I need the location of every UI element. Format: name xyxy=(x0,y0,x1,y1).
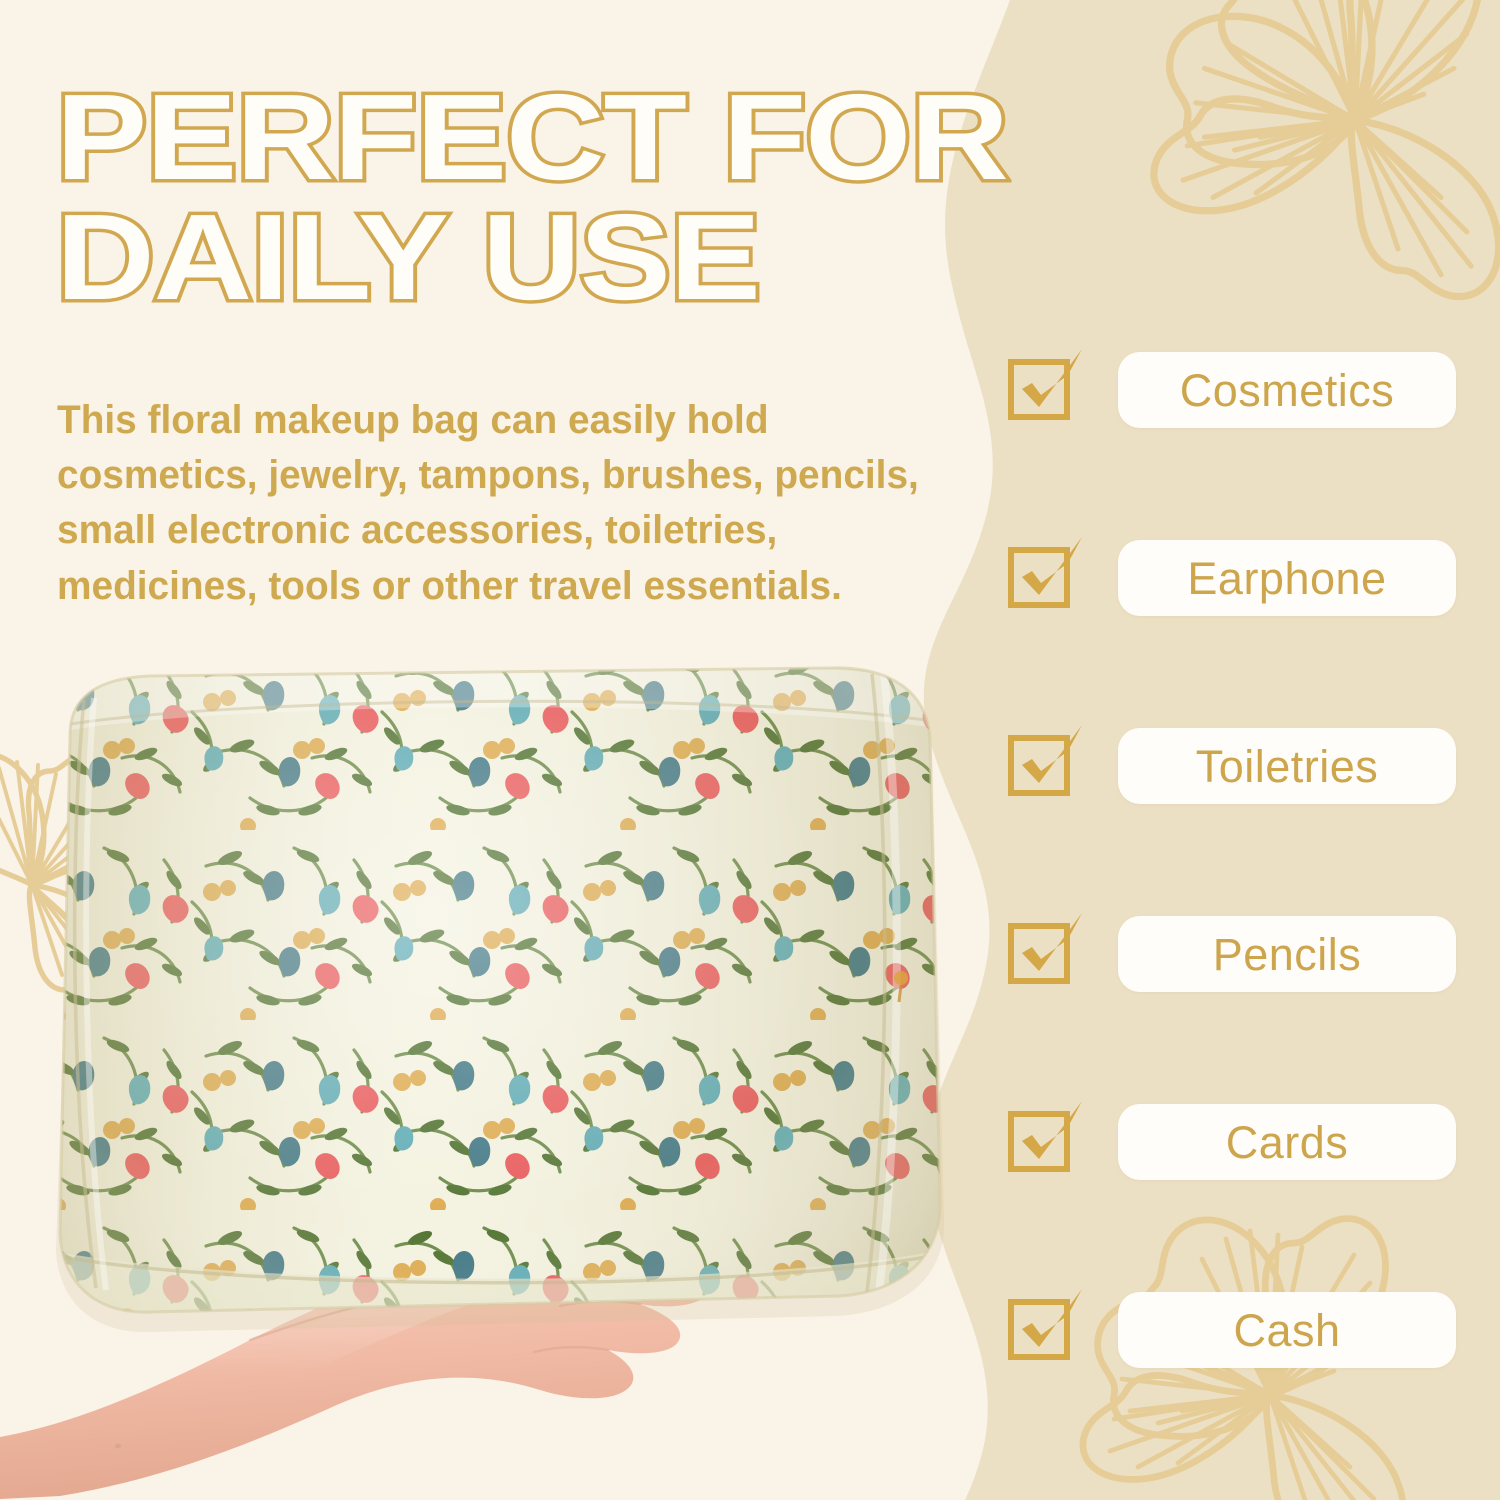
checklist-item-label: Pencils xyxy=(1213,932,1362,977)
hibiscus-flower-decoration-icon xyxy=(0,735,182,1035)
checklist-item[interactable]: Cash xyxy=(1008,1292,1478,1368)
checklist-item-label: Toiletries xyxy=(1196,744,1379,789)
checklist-item[interactable]: Cosmetics xyxy=(1008,352,1478,428)
checklist-item[interactable]: Cards xyxy=(1008,1104,1478,1180)
checkbox-checked-icon[interactable] xyxy=(1008,547,1072,609)
checklist-pill[interactable]: Cosmetics xyxy=(1118,352,1456,428)
feature-checklist: Cosmetics Earphone Toiletr xyxy=(1008,352,1478,1368)
checkbox-checked-icon[interactable] xyxy=(1008,1299,1072,1361)
checklist-pill[interactable]: Cash xyxy=(1118,1292,1456,1368)
checklist-item-label: Cards xyxy=(1226,1120,1349,1165)
checkbox-checked-icon[interactable] xyxy=(1008,1111,1072,1173)
checklist-item[interactable]: Toiletries xyxy=(1008,728,1478,804)
checkbox-checked-icon[interactable] xyxy=(1008,359,1072,421)
page-title: PERFECT FOR DAILY USE xyxy=(56,78,1154,317)
product-image xyxy=(0,640,1010,1500)
hand-holding-bag xyxy=(0,1243,711,1500)
product-feature-poster: PERFECT FOR DAILY USE This floral makeup… xyxy=(0,0,1500,1500)
checklist-pill[interactable]: Earphone xyxy=(1118,540,1456,616)
product-description: This floral makeup bag can easily hold c… xyxy=(57,393,974,614)
checkbox-checked-icon[interactable] xyxy=(1008,923,1072,985)
checklist-item[interactable]: Pencils xyxy=(1008,916,1478,992)
checklist-pill[interactable]: Toiletries xyxy=(1118,728,1456,804)
makeup-bag xyxy=(55,659,955,1332)
hibiscus-flower-decoration-icon xyxy=(1140,0,1500,335)
checklist-item[interactable]: Earphone xyxy=(1008,540,1478,616)
checklist-pill[interactable]: Cards xyxy=(1118,1104,1456,1180)
checkbox-checked-icon[interactable] xyxy=(1008,735,1072,797)
checklist-item-label: Cosmetics xyxy=(1180,368,1395,413)
checklist-pill[interactable]: Pencils xyxy=(1118,916,1456,992)
checklist-item-label: Cash xyxy=(1233,1308,1340,1353)
checklist-item-label: Earphone xyxy=(1187,556,1386,601)
